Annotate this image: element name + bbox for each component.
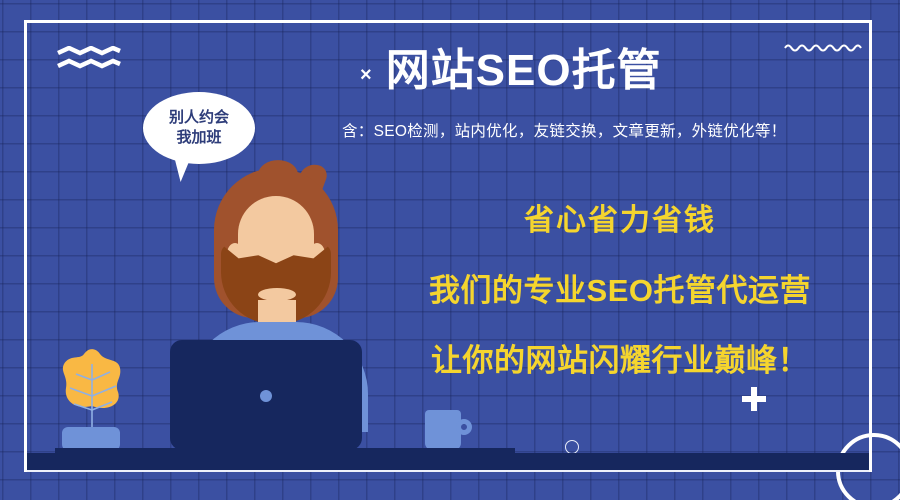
page-title: × 网站SEO托管 (360, 47, 662, 95)
slogan-line-1: 省心省力省钱 (370, 195, 870, 239)
desk-icon (27, 453, 869, 470)
close-icon: × (360, 65, 372, 85)
speech-bubble: 别人约会 我加班 (143, 92, 255, 164)
frame-base-line (27, 470, 869, 472)
page-subtitle: 含：SEO检测，站内优化，友链交换，文章更新，外链优化等！ (342, 119, 786, 141)
potted-leaf-plant-icon (56, 348, 128, 434)
seo-promo-poster: 别人约会 我加班 × 网站SEO托管 含：SEO检测，站内优化，友链交换，文章更… (0, 0, 900, 500)
slogan-line-3: 让你的网站闪耀行业巅峰！ (370, 335, 870, 380)
laptop-logo-icon (260, 390, 272, 402)
speech-bubble-line-2: 我加班 (176, 128, 221, 148)
page-title-text: 网站SEO托管 (386, 47, 662, 95)
speech-bubble-line-1: 别人约会 (169, 108, 229, 128)
slogan-line-2: 我们的专业SEO托管代运营 (370, 265, 870, 310)
plus-icon (742, 387, 766, 411)
mug-handle (456, 419, 472, 435)
